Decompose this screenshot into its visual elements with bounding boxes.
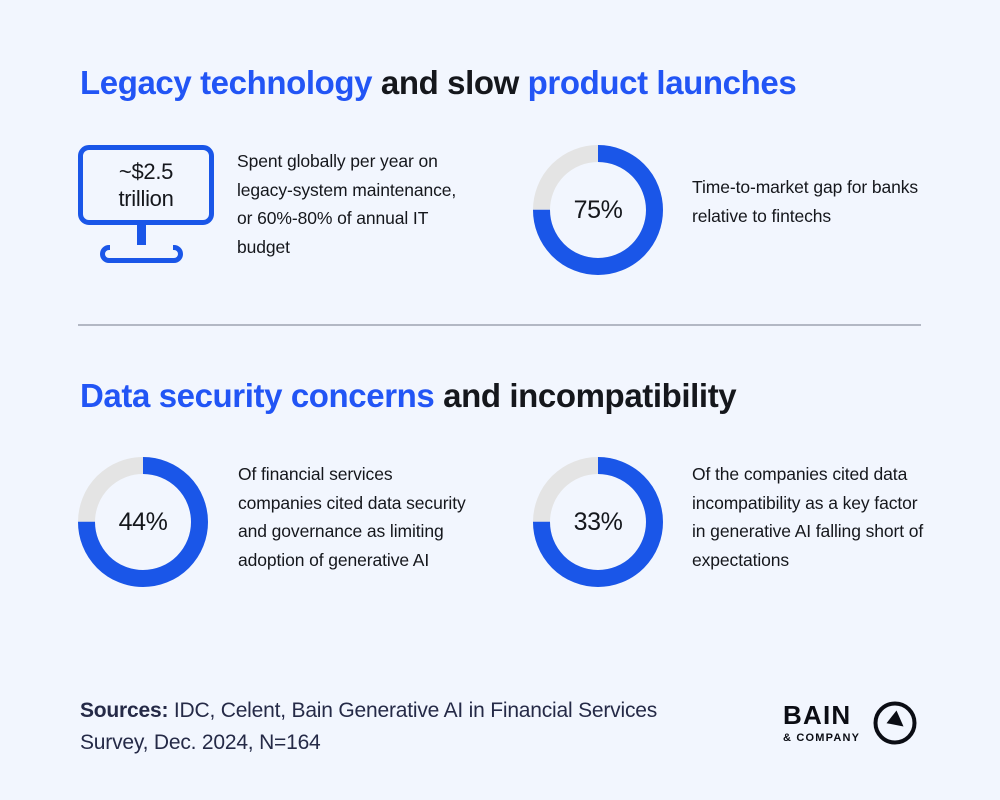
section-1-heading-highlight-2: product launches [528, 64, 797, 101]
stat-legacy-spend: ~$2.5 trillion Spent globally per year o… [78, 145, 478, 270]
stat-time-to-market: 75% Time-to-market gap for banks relativ… [533, 145, 953, 275]
section-1-heading: Legacy technology and slow product launc… [80, 64, 796, 102]
sources-label: Sources: [80, 699, 168, 722]
stat-data-incompatibility-description: Of the companies cited data incompatibil… [692, 460, 924, 574]
logo-subtitle: & COMPANY [783, 731, 860, 745]
section-2-heading-plain: and incompatibility [434, 377, 736, 414]
donut-chart-33: 33% [533, 457, 663, 587]
stat-data-security-description: Of financial services companies cited da… [238, 460, 473, 574]
section-2-heading: Data security concerns and incompatibili… [80, 377, 736, 415]
donut-chart-75: 75% [533, 145, 663, 275]
bain-company-logo: BAIN & COMPANY [783, 700, 918, 746]
sources-note: Sources: IDC, Celent, Bain Generative AI… [80, 695, 720, 759]
stat-data-security: 44% Of financial services companies cite… [78, 457, 498, 587]
stat-time-to-market-description: Time-to-market gap for banks relative to… [692, 173, 932, 230]
infographic-page: Legacy technology and slow product launc… [0, 0, 1000, 800]
stat-legacy-spend-description: Spent globally per year on legacy-system… [237, 147, 459, 261]
section-1-heading-plain: and slow [372, 64, 528, 101]
donut-chart-33-label: 33% [533, 457, 663, 587]
logo-wordmark: BAIN & COMPANY [783, 702, 860, 745]
donut-chart-75-label: 75% [533, 145, 663, 275]
monitor-icon: ~$2.5 trillion [78, 145, 218, 270]
monitor-value-line-1: ~$2.5 [119, 158, 173, 185]
section-2-heading-highlight: Data security concerns [80, 377, 434, 414]
donut-chart-44-label: 44% [78, 457, 208, 587]
section-1-heading-highlight: Legacy technology [80, 64, 372, 101]
monitor-value-line-2: trillion [118, 185, 173, 212]
stat-data-incompatibility: 33% Of the companies cited data incompat… [533, 457, 953, 587]
bain-circle-triangle-icon [872, 700, 918, 746]
monitor-screen: ~$2.5 trillion [78, 145, 214, 225]
logo-name: BAIN [783, 702, 851, 729]
donut-chart-44: 44% [78, 457, 208, 587]
section-divider [78, 324, 921, 326]
monitor-stand-base-fill [110, 245, 173, 251]
